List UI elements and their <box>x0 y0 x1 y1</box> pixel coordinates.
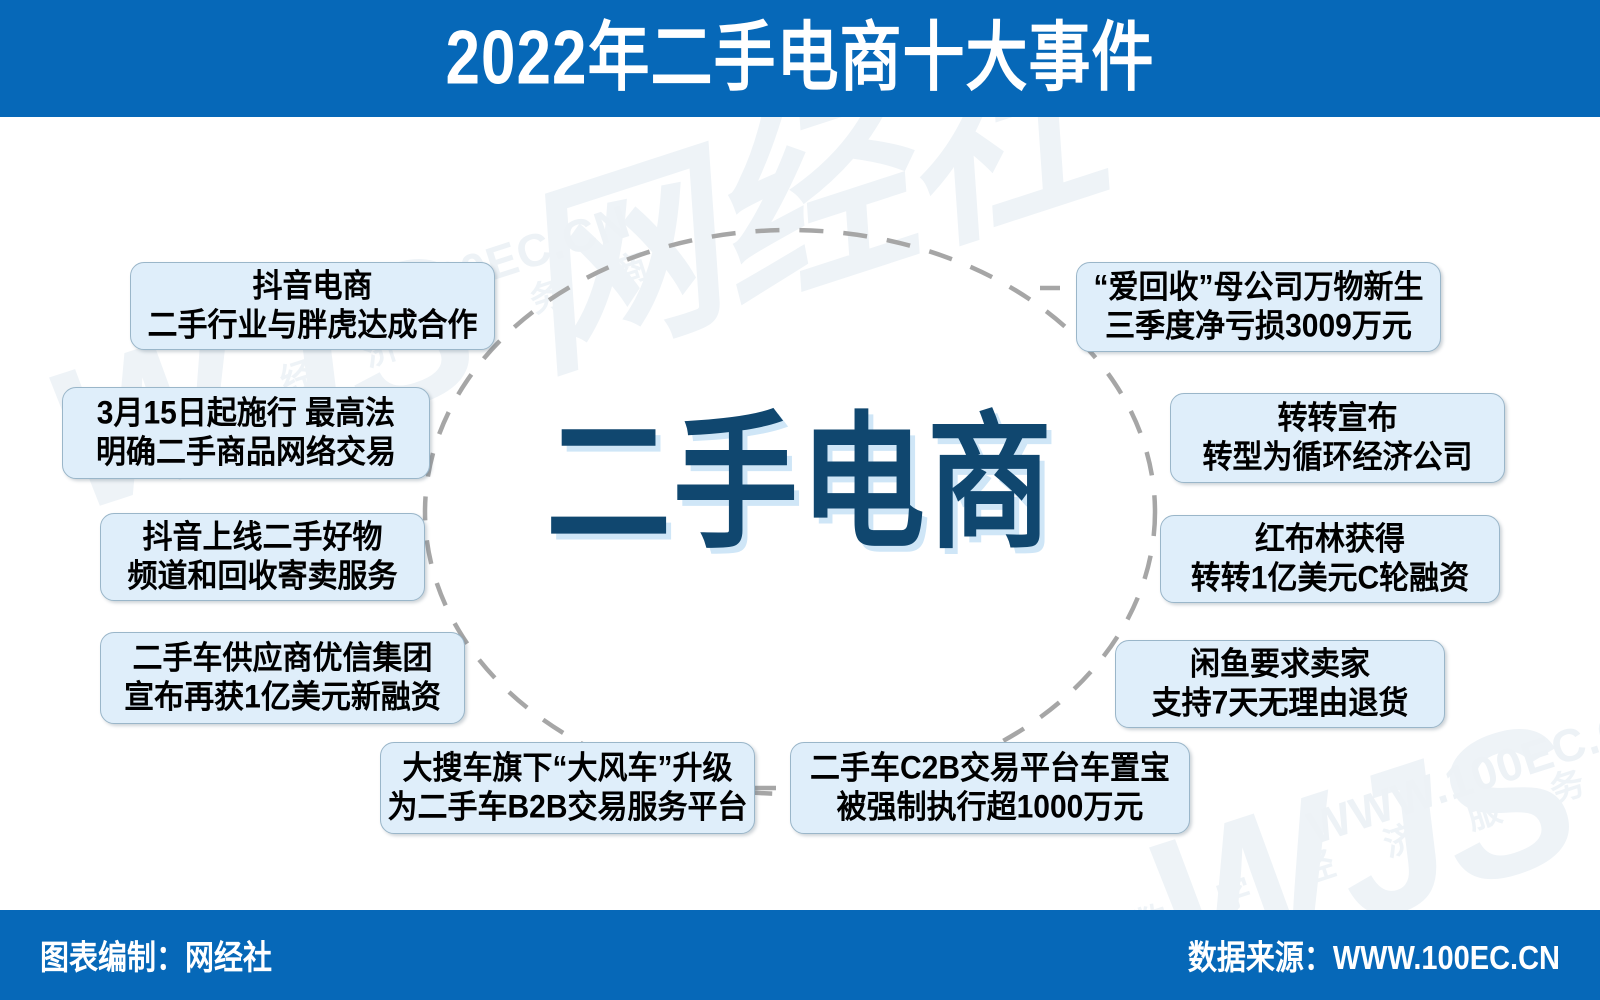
event-box-supreme-court-0315[interactable]: 3月15日起施行 最高法 明确二手商品网络交易 <box>62 387 430 479</box>
event-box-hongbulin-c-round[interactable]: 红布林获得 转转1亿美元C轮融资 <box>1160 515 1500 603</box>
event-line-2: 三季度净亏损3009万元 <box>1105 306 1412 348</box>
event-box-douyin-secondhand-channel[interactable]: 抖音上线二手好物 频道和回收寄卖服务 <box>100 513 425 601</box>
footer-credit: 图表编制：网经社 <box>40 931 272 979</box>
event-line-1: 3月15日起施行 最高法 <box>97 393 395 435</box>
event-line-2: 二手行业与胖虎达成合作 <box>148 305 478 347</box>
event-line-1: 大搜车旗下“大风车”升级 <box>403 748 733 790</box>
event-line-1: 抖音上线二手好物 <box>143 517 383 559</box>
event-line-1: 闲鱼要求卖家 <box>1190 644 1370 686</box>
footer-bar: 图表编制：网经社 数据来源：WWW.100EC.CN <box>0 910 1600 1000</box>
event-line-1: 抖音电商 <box>253 266 373 308</box>
event-line-1: “爱回收”母公司万物新生 <box>1094 267 1424 309</box>
event-box-dasouche-dafengche[interactable]: 大搜车旗下“大风车”升级 为二手车B2B交易服务平台 <box>380 742 755 834</box>
event-line-2: 频道和回收寄卖服务 <box>128 556 398 598</box>
event-box-douyin-panghu[interactable]: 抖音电商 二手行业与胖虎达成合作 <box>130 262 495 350</box>
event-line-1: 转转宣布 <box>1278 398 1398 440</box>
event-line-2: 明确二手商品网络交易 <box>96 432 396 474</box>
event-line-2: 被强制执行超1000万元 <box>837 787 1144 829</box>
event-line-1: 红布林获得 <box>1255 519 1405 561</box>
center-topic-title: 二手电商 <box>546 363 1054 577</box>
event-box-chezhibao-enforcement[interactable]: 二手车C2B交易平台车置宝 被强制执行超1000万元 <box>790 742 1190 834</box>
event-box-xianyu-7day-return[interactable]: 闲鱼要求卖家 支持7天无理由退货 <box>1115 640 1445 728</box>
event-line-2: 转转1亿美元C轮融资 <box>1191 558 1469 600</box>
page-title: 2022年二手电商十大事件 <box>446 21 1155 97</box>
event-line-1: 二手车供应商优信集团 <box>133 638 433 680</box>
infographic-canvas: WJS 网经社 WWW.100EC.CN 数 字 经 济 服 务 商 WJS 网… <box>0 0 1600 1000</box>
header-bar: 2022年二手电商十大事件 <box>0 0 1600 117</box>
footer-source: 数据来源：WWW.100EC.CN <box>1188 931 1560 979</box>
event-line-2: 支持7天无理由退货 <box>1152 683 1409 725</box>
event-box-aihuishou-loss[interactable]: “爱回收”母公司万物新生 三季度净亏损3009万元 <box>1076 262 1441 352</box>
event-line-1: 二手车C2B交易平台车置宝 <box>810 748 1170 790</box>
event-box-uxin-funding[interactable]: 二手车供应商优信集团 宣布再获1亿美元新融资 <box>100 632 465 724</box>
event-line-2: 转型为循环经济公司 <box>1203 437 1473 479</box>
event-line-2: 宣布再获1亿美元新融资 <box>124 677 441 719</box>
event-line-2: 为二手车B2B交易服务平台 <box>388 787 748 829</box>
event-box-zhuanzhuan-circular[interactable]: 转转宣布 转型为循环经济公司 <box>1170 393 1505 483</box>
